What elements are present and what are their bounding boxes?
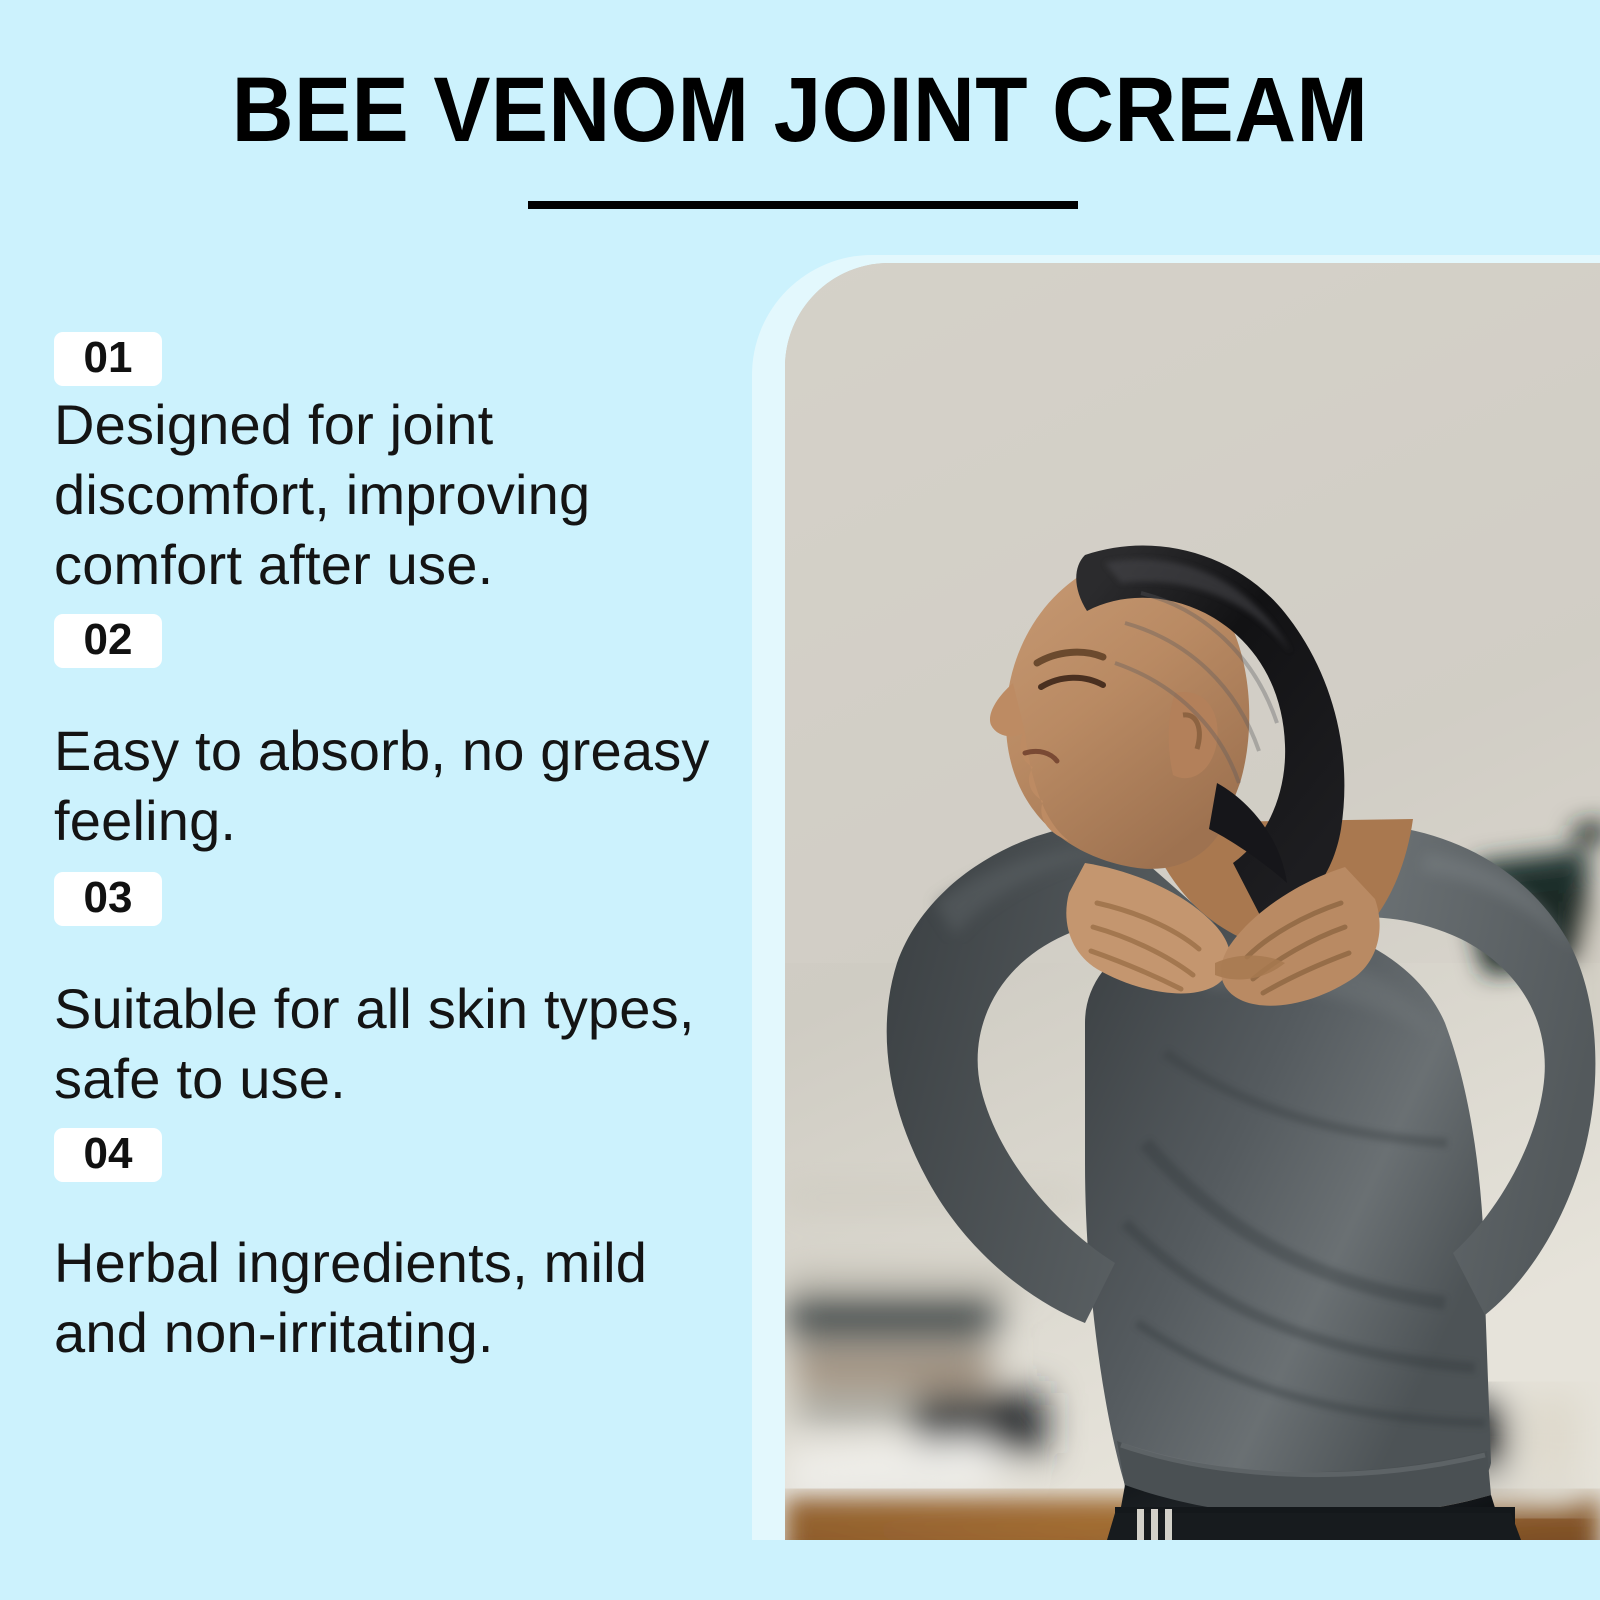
feature-item-03: 03 Suitable for all skin types, safe to …	[54, 872, 714, 1114]
feature-description: Suitable for all skin types, safe to use…	[54, 974, 714, 1114]
feature-item-04: 04 Herbal ingredients, mild and non-irri…	[54, 1128, 714, 1368]
product-photo	[785, 263, 1600, 1540]
feature-number-badge: 02	[54, 614, 162, 668]
feature-list: 01 Designed for joint discomfort, improv…	[54, 332, 714, 1368]
title-divider	[528, 201, 1078, 209]
header: BEE VENOM JOINT CREAM	[0, 0, 1600, 250]
feature-number-badge: 03	[54, 872, 162, 926]
feature-description: Easy to absorb, no greasy feeling.	[54, 716, 714, 856]
feature-number-badge: 04	[54, 1128, 162, 1182]
page-title: BEE VENOM JOINT CREAM	[56, 62, 1544, 158]
feature-description: Herbal ingredients, mild and non-irritat…	[54, 1228, 714, 1368]
photo-illustration	[785, 263, 1600, 1540]
feature-number-badge: 01	[54, 332, 162, 386]
feature-description: Designed for joint discomfort, improving…	[54, 390, 714, 600]
feature-item-02: 02 Easy to absorb, no greasy feeling.	[54, 614, 714, 856]
feature-item-01: 01 Designed for joint discomfort, improv…	[54, 332, 714, 600]
